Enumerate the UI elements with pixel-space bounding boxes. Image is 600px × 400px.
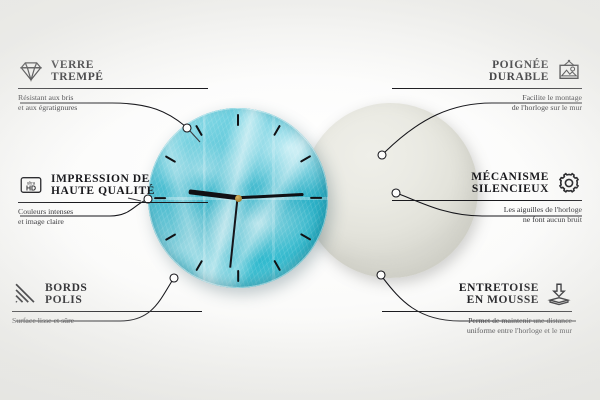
feature-title: MÉCANISME SILENCIEUX: [471, 171, 549, 196]
feature-tempered-glass: VERRE TREMPÉ Résistant aux bris et aux é…: [18, 58, 208, 112]
feature-foam-spacer: ENTRETOISE EN MOUSSE Permet de maintenir…: [382, 281, 572, 335]
feature-durable-hanger: POIGNÉE DURABLE Facilite le montage de l…: [392, 58, 582, 112]
feature-description: Surface lisse et sûre: [12, 316, 202, 326]
feature-divider: [18, 88, 208, 89]
feature-title: BORDS POLIS: [45, 282, 87, 307]
feature-head: ultra HD IMPRESSION DE HAUTE QUALITÉ: [18, 172, 208, 198]
arrow-down-onto-pad-icon: [546, 281, 572, 307]
feature-head: POIGNÉE DURABLE: [392, 58, 582, 84]
infographic-canvas: VERRE TREMPÉ Résistant aux bris et aux é…: [0, 0, 600, 400]
diamond-gem-icon: [18, 58, 44, 84]
feature-title: POIGNÉE DURABLE: [489, 59, 549, 84]
feature-divider: [12, 311, 202, 312]
diagonal-stripes-icon: [12, 281, 38, 307]
svg-text:HD: HD: [26, 185, 36, 192]
gear-icon: [556, 170, 582, 196]
feature-head: ENTRETOISE EN MOUSSE: [382, 281, 572, 307]
feature-head: MÉCANISME SILENCIEUX: [392, 170, 582, 196]
feature-divider: [392, 200, 582, 201]
feature-title: IMPRESSION DE HAUTE QUALITÉ: [51, 173, 155, 198]
feature-polished-edges: BORDS POLIS Surface lisse et sûre: [12, 281, 202, 326]
hanging-picture-frame-icon: [556, 58, 582, 84]
feature-silent-mechanism: MÉCANISME SILENCIEUX Les aiguilles de l'…: [392, 170, 582, 224]
feature-description: Facilite le montage de l'horloge sur le …: [392, 93, 582, 112]
feature-divider: [382, 311, 572, 312]
feature-head: BORDS POLIS: [12, 281, 202, 307]
feature-divider: [18, 202, 208, 203]
feature-divider: [392, 88, 582, 89]
ultra-hd-icon: ultra HD: [18, 172, 44, 198]
feature-title: VERRE TREMPÉ: [51, 59, 104, 84]
feature-description: Couleurs intenses et image claire: [18, 207, 208, 226]
feature-description: Résistant aux bris et aux égratignures: [18, 93, 208, 112]
feature-description: Permet de maintenir une distance uniform…: [382, 316, 572, 335]
feature-description: Les aiguilles de l'horloge ne font aucun…: [392, 205, 582, 224]
feature-title: ENTRETOISE EN MOUSSE: [459, 282, 539, 307]
feature-head: VERRE TREMPÉ: [18, 58, 208, 84]
feature-high-quality-print: ultra HD IMPRESSION DE HAUTE QUALITÉ Cou…: [18, 172, 208, 226]
